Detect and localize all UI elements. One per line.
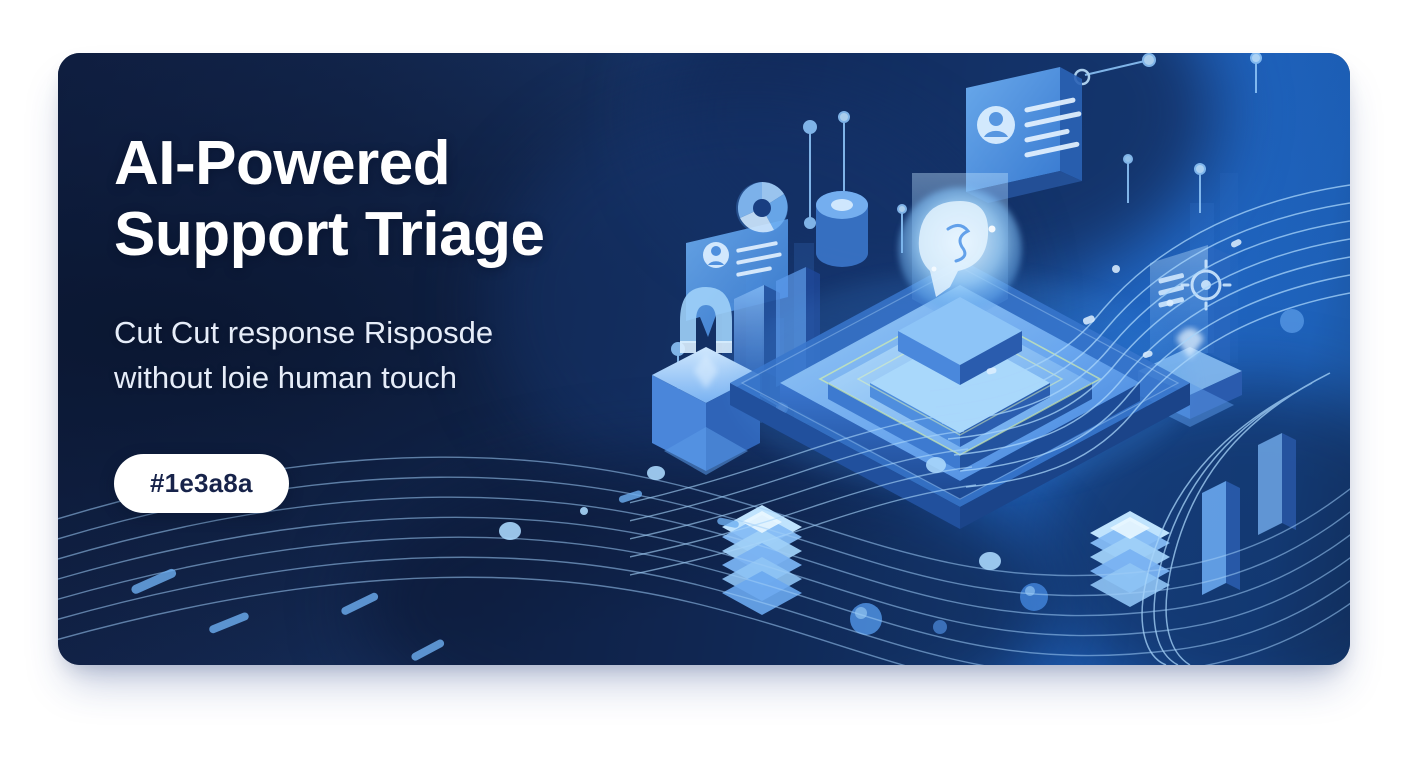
cylinder-shape bbox=[816, 191, 868, 267]
subtitle-line-1: Cut Cut response Risposde bbox=[114, 311, 674, 356]
headline-line-1: AI-Powered bbox=[114, 128, 674, 199]
color-code-pill[interactable]: #1e3a8a bbox=[114, 454, 289, 513]
page-subtitle: Cut Cut response Risposde without loie h… bbox=[114, 311, 674, 401]
subtitle-line-2: without loie human touch bbox=[114, 356, 674, 401]
isometric-ai-network-illustration bbox=[630, 53, 1350, 665]
page-title: AI-Powered Support Triage bbox=[114, 128, 674, 271]
headline-line-2: Support Triage bbox=[114, 199, 674, 270]
ai-support-triage-banner: AI-Powered Support Triage Cut Cut respon… bbox=[58, 53, 1350, 665]
ai-brain-core bbox=[898, 173, 1022, 385]
donut-chart bbox=[736, 182, 788, 234]
server-stack-right bbox=[1090, 511, 1170, 607]
banner-content: AI-Powered Support Triage Cut Cut respon… bbox=[114, 128, 674, 513]
server-stack-left bbox=[722, 505, 802, 615]
